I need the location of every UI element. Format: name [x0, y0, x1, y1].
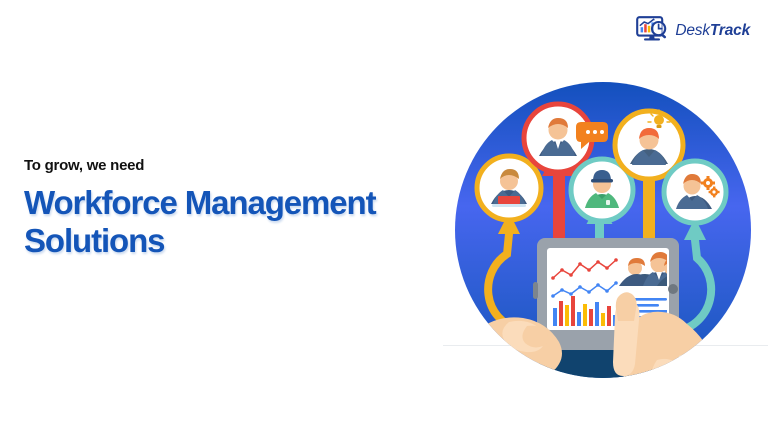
eyebrow-text: To grow, we need	[24, 158, 444, 175]
slide-canvas: DeskTrack To grow, we need Workforce Man…	[0, 0, 768, 432]
headline-block: To grow, we need Workforce Management So…	[24, 158, 444, 261]
page-title: Workforce Management Solutions	[24, 184, 444, 261]
desktrack-monitor-chart-magnifier-icon	[636, 16, 670, 46]
headline-line-2: Solutions	[24, 222, 164, 259]
avatar-bubble-operations-person	[664, 161, 726, 223]
brand-logo-text-desk: Desk	[675, 22, 710, 39]
brand-logo-text-track: Track	[710, 22, 750, 39]
brand-logo-text: DeskTrack	[675, 22, 750, 40]
avatar-bubble-laptop-worker	[477, 156, 541, 220]
workforce-management-illustration	[443, 82, 768, 378]
headline-line-1: Workforce Management	[24, 184, 375, 221]
brand-logo[interactable]: DeskTrack	[636, 16, 750, 46]
